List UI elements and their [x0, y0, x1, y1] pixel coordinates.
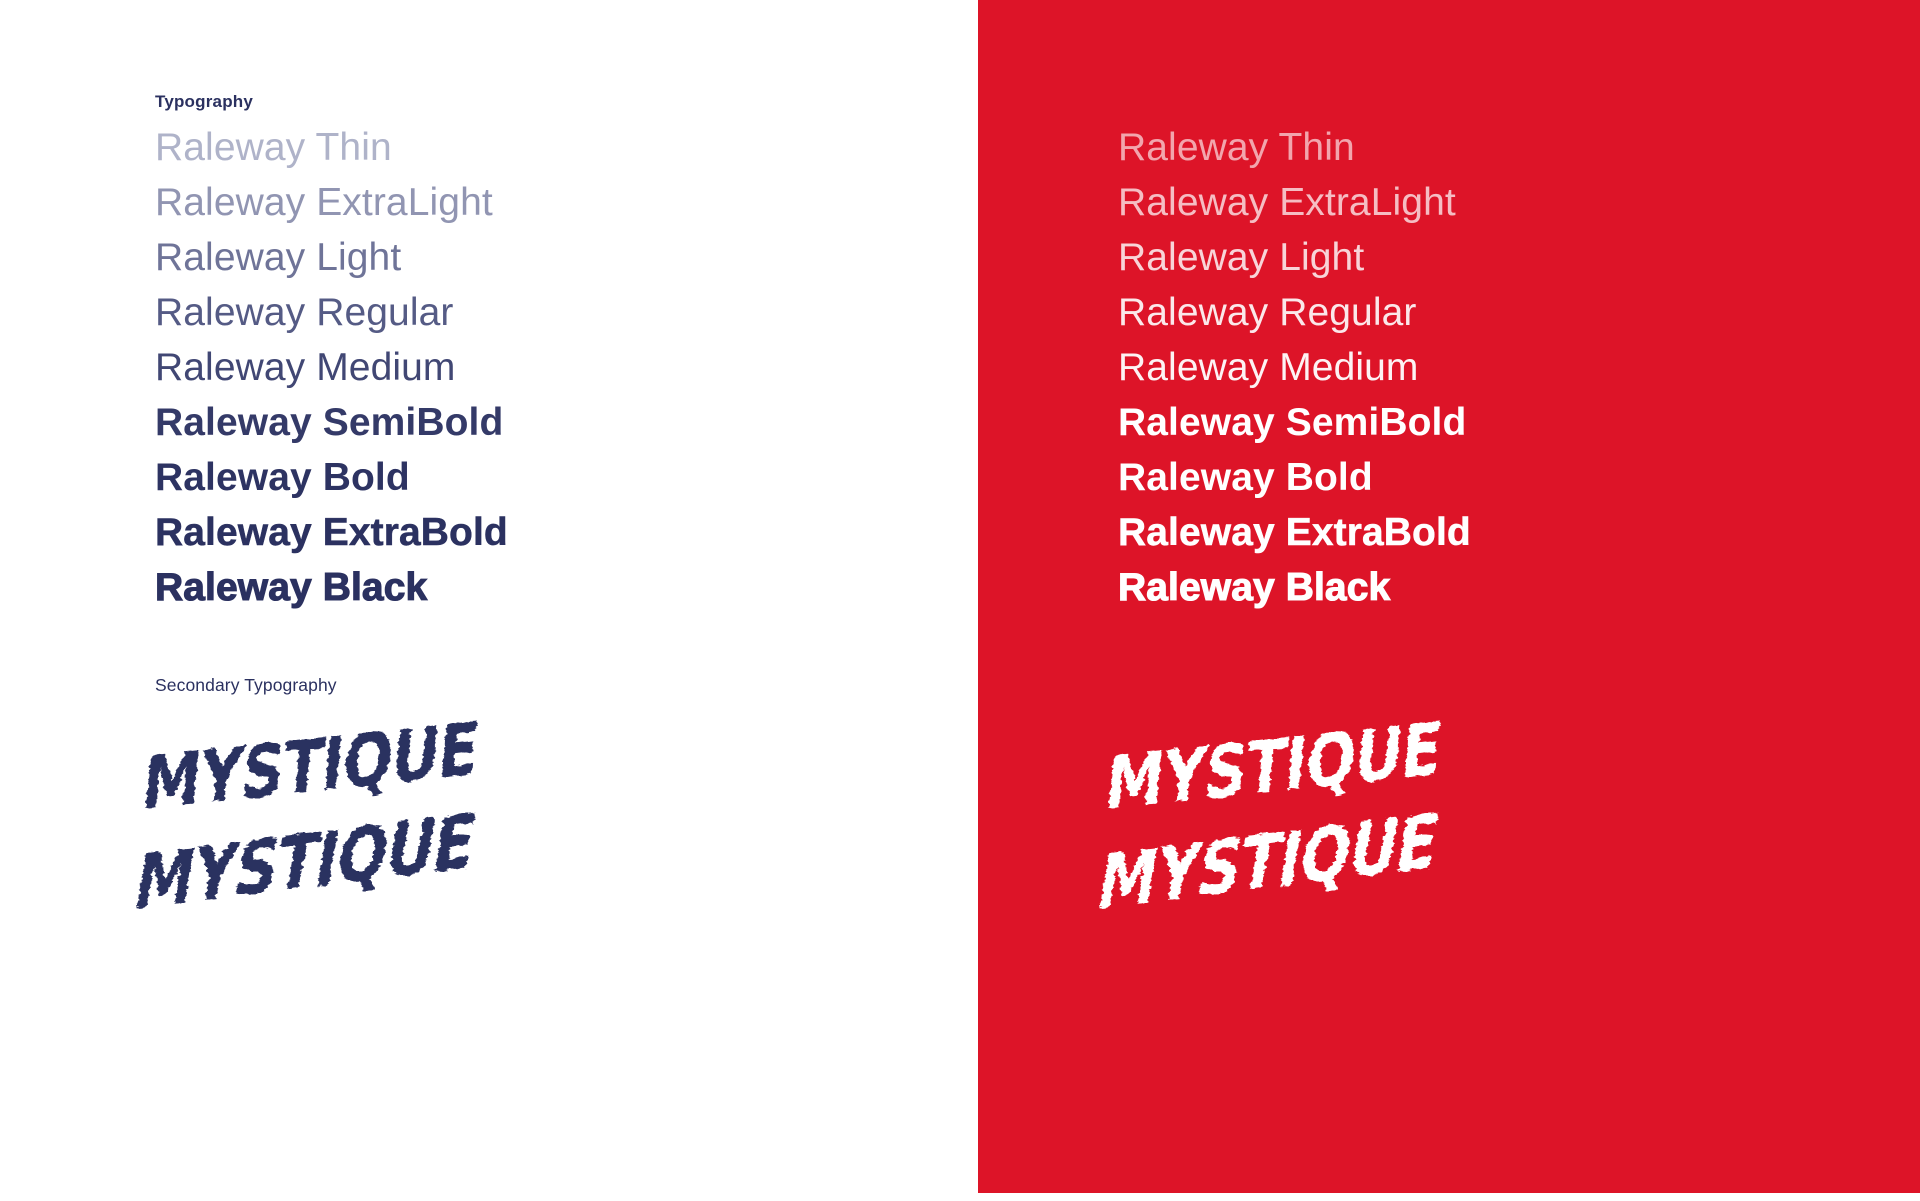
- specimen-list-light: Raleway Thin Raleway ExtraLight Raleway …: [155, 120, 945, 615]
- specimen-list-red: Raleway Thin Raleway ExtraLight Raleway …: [1118, 120, 1908, 615]
- primary-typography-heading: Typography: [155, 92, 253, 112]
- specimen-raleway-thin: Raleway Thin: [155, 120, 945, 175]
- specimen-red-raleway-light: Raleway Light: [1118, 230, 1908, 285]
- light-panel-column: Typography Raleway Thin Raleway ExtraLig…: [155, 0, 945, 1201]
- specimen-red-raleway-black: Raleway Black: [1118, 560, 1908, 615]
- specimen-red-raleway-regular: Raleway Regular: [1118, 285, 1908, 340]
- specimen-red-raleway-bold: Raleway Bold: [1118, 450, 1908, 505]
- mystique-wordmark-text-alt: MYSTIQUE: [128, 798, 481, 927]
- specimen-raleway-medium: Raleway Medium: [155, 340, 945, 395]
- specimen-raleway-bold: Raleway Bold: [155, 450, 945, 505]
- red-panel-column: Raleway Thin Raleway ExtraLight Raleway …: [1118, 0, 1908, 1201]
- specimen-raleway-extrabold: Raleway ExtraBold: [155, 505, 945, 560]
- specimen-red-raleway-extrabold: Raleway ExtraBold: [1118, 505, 1908, 560]
- specimen-raleway-regular: Raleway Regular: [155, 285, 945, 340]
- mystique-logotype-slanted-white: MYSTIQUE: [1118, 812, 1458, 917]
- specimen-raleway-extralight: Raleway ExtraLight: [155, 175, 945, 230]
- specimen-red-raleway-extralight: Raleway ExtraLight: [1118, 175, 1908, 230]
- brush-script-svg-alt: MYSTIQUE: [155, 812, 495, 917]
- specimen-red-raleway-semibold: Raleway SemiBold: [1118, 395, 1908, 450]
- secondary-typography-heading: Secondary Typography: [155, 675, 337, 696]
- mystique-wordmark-text-alt-white: MYSTIQUE: [1091, 798, 1444, 927]
- typography-specimen-page: Typography Raleway Thin Raleway ExtraLig…: [0, 0, 1920, 1201]
- specimen-red-raleway-medium: Raleway Medium: [1118, 340, 1908, 395]
- specimen-red-raleway-thin: Raleway Thin: [1118, 120, 1908, 175]
- brush-script-svg-alt-white: MYSTIQUE: [1118, 812, 1458, 917]
- specimen-raleway-light: Raleway Light: [155, 230, 945, 285]
- mystique-logotype-slanted-navy: MYSTIQUE: [155, 812, 495, 917]
- specimen-raleway-black: Raleway Black: [155, 560, 945, 615]
- specimen-raleway-semibold: Raleway SemiBold: [155, 395, 945, 450]
